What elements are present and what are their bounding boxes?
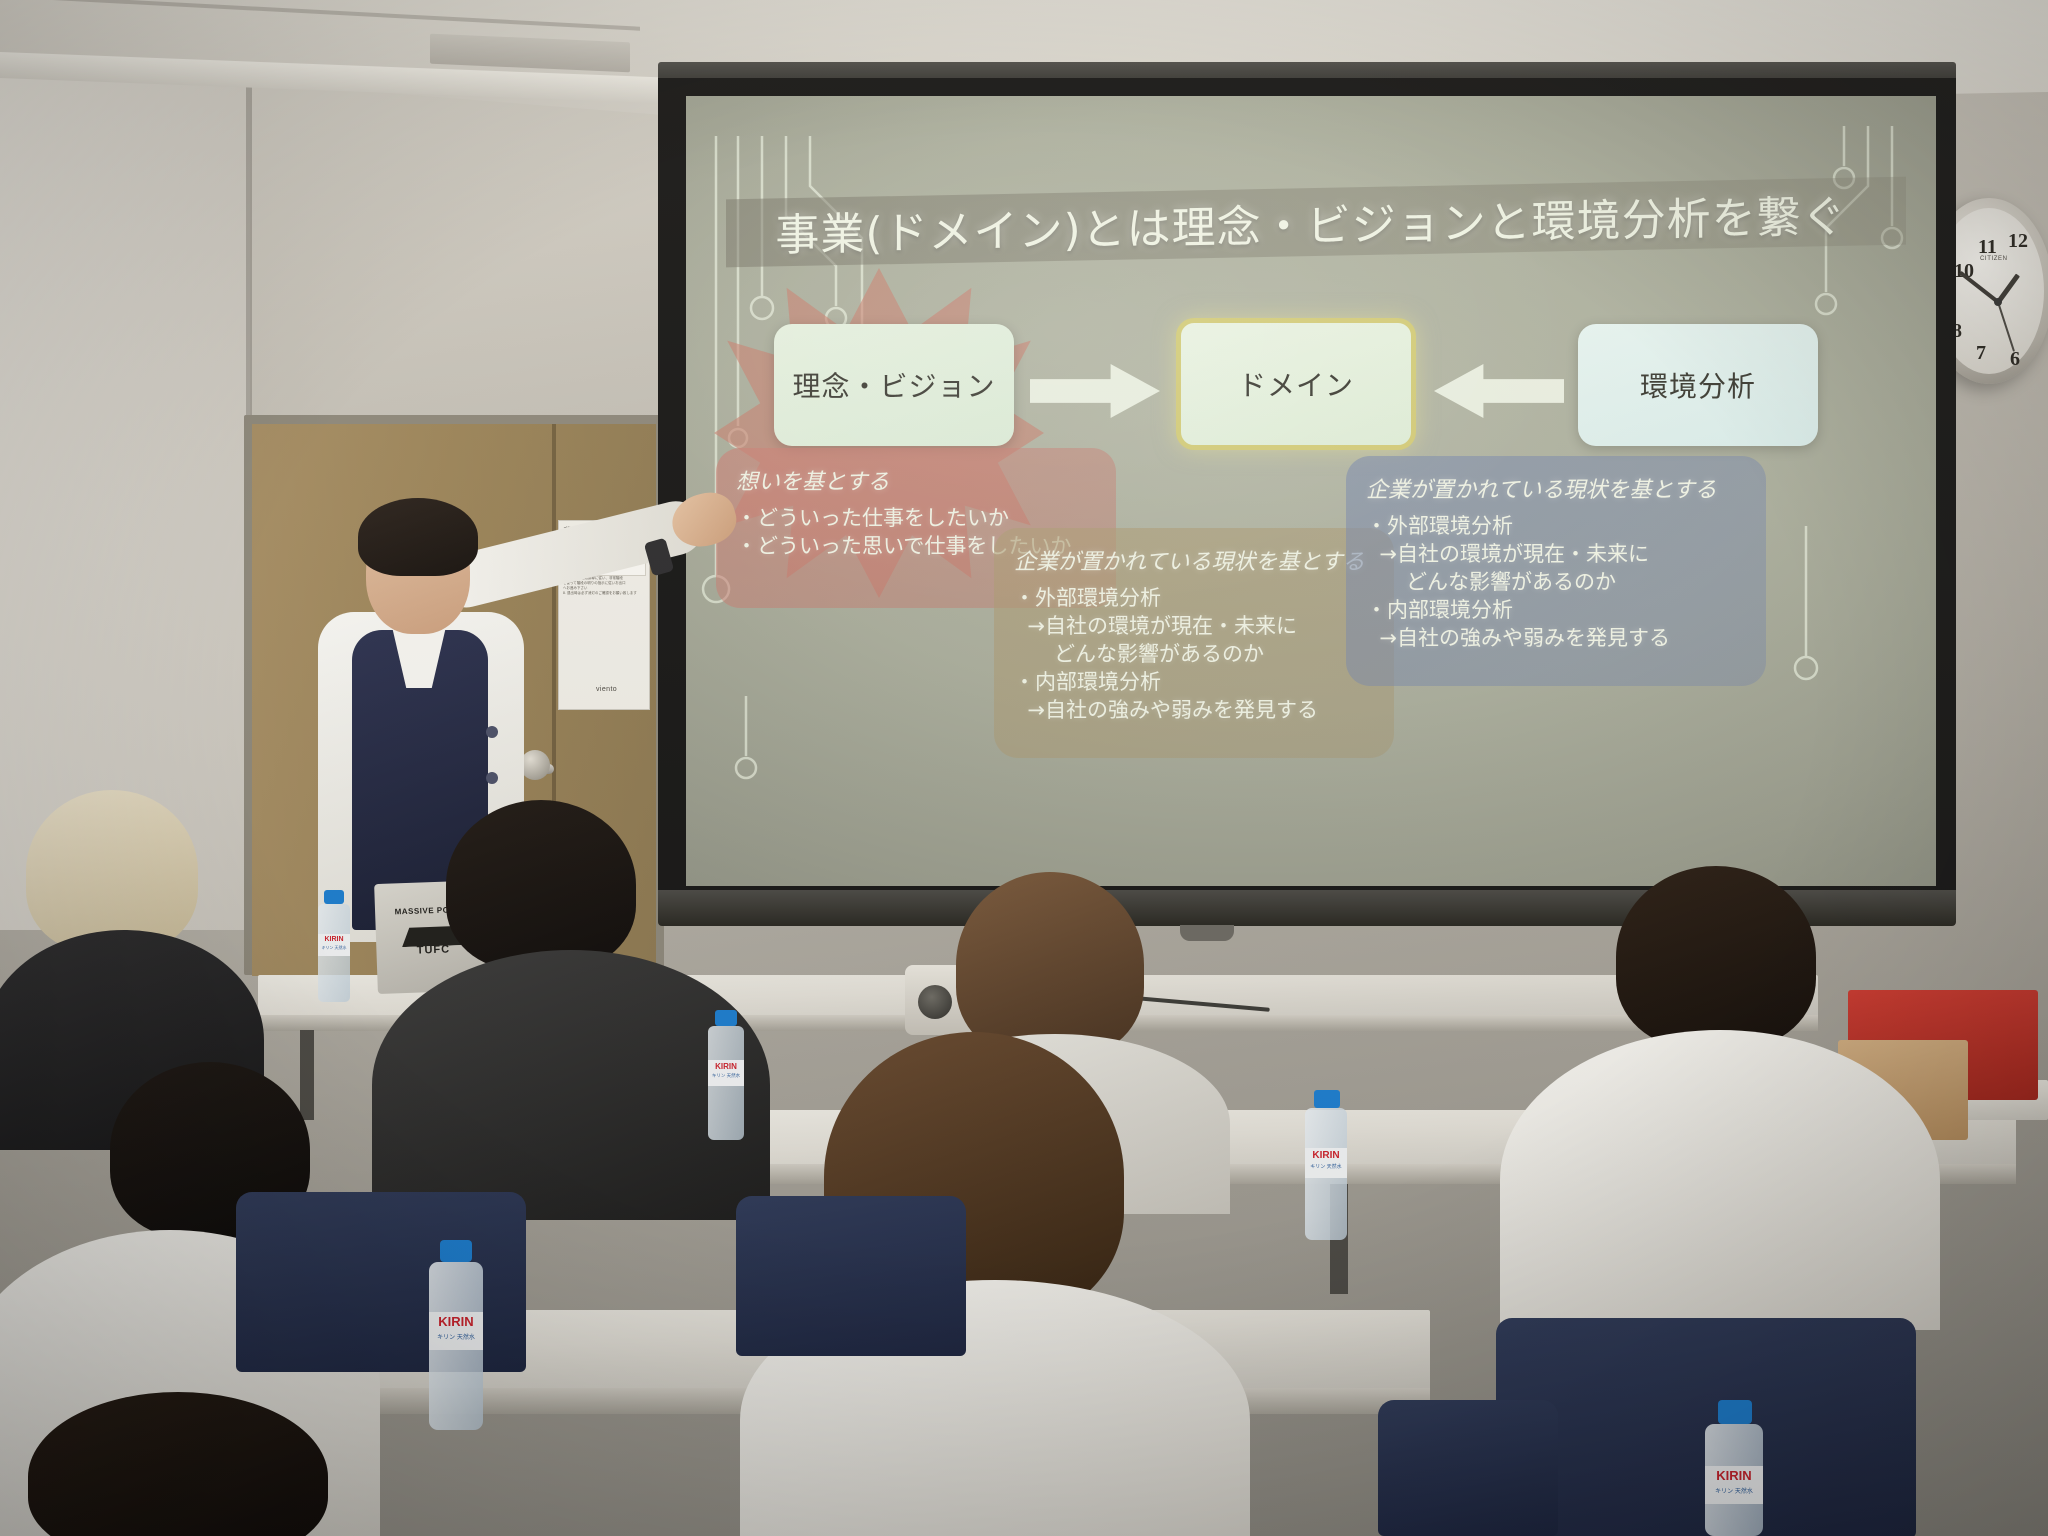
attendee-white-tshirt-right-shoulders: [1500, 1030, 1940, 1330]
attendee-blond-hair: [26, 790, 198, 952]
flow-box-vision-label: 理念・ビジョン: [792, 365, 995, 405]
panel-domain: 企業が置かれている現状を基とする ・外部環境分析 →自社の環境が現在・未来に ど…: [994, 528, 1394, 758]
flow-box-domain: ドメイン: [1176, 318, 1416, 450]
door-notice-logo: viento: [596, 686, 617, 693]
bottle-label: KIRIN キリン 天然水: [318, 934, 350, 956]
slide-title: 事業(ドメイン)とは理念・ビジョンと環境分析を繋ぐ: [686, 179, 1936, 265]
bottle-cap-icon: [1314, 1090, 1340, 1108]
panel-environment-line: →自社の環境が現在・未来に: [1366, 540, 1746, 568]
bottle-brand-label: KIRIN: [708, 1060, 744, 1073]
flow-box-environment-label: 環境分析: [1640, 365, 1756, 405]
bottle-brand-label: KIRIN: [429, 1312, 483, 1332]
projected-slide: 事業(ドメイン)とは理念・ビジョンと環境分析を繋ぐ 理念・ビジョン ドメイン 環…: [686, 96, 1936, 886]
bottle-cap-icon: [715, 1010, 737, 1026]
panel-domain-heading: 企業が置かれている現状を基とする: [1014, 544, 1374, 576]
door-notice-line: 8. 退出時は必ず消灯のご確認をお願い致します: [563, 591, 645, 596]
bottle-4[interactable]: KIRIN キリン 天然水: [418, 1240, 494, 1430]
bottle-brand-label: KIRIN: [1705, 1466, 1763, 1486]
vest-button: [486, 726, 498, 738]
arrow-environment-to-domain: [1434, 364, 1564, 418]
door-knob[interactable]: [520, 750, 550, 780]
clock-minute-hand: [1959, 271, 1999, 304]
clock-numeral: 11: [1978, 236, 1997, 259]
bottle-3[interactable]: KIRIN キリン 天然水: [1296, 1090, 1356, 1240]
clock-numeral: 6: [2010, 348, 2020, 371]
panel-domain-line: →自社の強みや弱みを発見する: [1014, 696, 1374, 724]
vest-button: [486, 772, 498, 784]
bottle-label: KIRIN キリン 天然水: [1705, 1466, 1763, 1504]
chair-center[interactable]: [736, 1196, 966, 1356]
panel-domain-line: ・外部環境分析: [1014, 584, 1374, 612]
bottle-sub-label: キリン 天然水: [318, 945, 350, 951]
bottle-sub-label: キリン 天然水: [429, 1332, 483, 1341]
panel-environment-line: どんな影響があるのか: [1366, 568, 1746, 596]
bottle-label: KIRIN キリン 天然水: [708, 1060, 744, 1086]
panel-environment-line: ・内部環境分析: [1366, 596, 1746, 624]
bottle-1[interactable]: KIRIN キリン 天然水: [312, 890, 356, 1002]
presenter-hair: [358, 498, 478, 576]
attendee-brown-hair-head: [956, 872, 1144, 1058]
bottle-sub-label: キリン 天然水: [1305, 1163, 1347, 1170]
bottle-2[interactable]: KIRIN キリン 天然水: [700, 1010, 752, 1140]
clock-second-hand: [1997, 302, 2015, 352]
table-leg: [300, 1030, 314, 1120]
panel-environment-heading: 企業が置かれている現状を基とする: [1366, 472, 1746, 504]
clock-numeral: 12: [2008, 230, 2028, 253]
panel-domain-line: →自社の環境が現在・未来に: [1014, 612, 1374, 640]
panel-vision-heading: 想いを基とする: [736, 464, 1096, 496]
arrow-vision-to-domain: [1030, 364, 1160, 418]
seminar-room-photo: ご利用にあたってのお願い 1. 室内での飲食はご遠慮下さい 2. 窓際の什器類の…: [0, 0, 2048, 1536]
panel-domain-line: ・内部環境分析: [1014, 668, 1374, 696]
flow-box-domain-label: ドメイン: [1238, 364, 1354, 404]
flow-box-vision: 理念・ビジョン: [774, 324, 1014, 446]
bottle-label: KIRIN キリン 天然水: [1305, 1148, 1347, 1178]
bottle-5[interactable]: KIRIN キリン 天然水: [1692, 1400, 1776, 1536]
bottle-cap-icon: [440, 1240, 472, 1262]
attendee-white-tshirt-right-hair: [1616, 866, 1816, 1048]
clock-center-pin: [1994, 298, 2002, 306]
bottle-brand-label: KIRIN: [1305, 1148, 1347, 1163]
projection-screen-pull-tab[interactable]: [1180, 925, 1234, 941]
panel-environment-line: →自社の強みや弱みを発見する: [1366, 624, 1746, 652]
projector-lens: [918, 985, 952, 1019]
panel-domain-line: どんな影響があるのか: [1014, 640, 1374, 668]
bottle-label: KIRIN キリン 天然水: [429, 1312, 483, 1350]
chair-right-2[interactable]: [1378, 1400, 1558, 1536]
panel-environment-line: ・外部環境分析: [1366, 512, 1746, 540]
bottle-brand-label: KIRIN: [318, 934, 350, 945]
bottle-sub-label: キリン 天然水: [708, 1073, 744, 1079]
bottle-cap-icon: [1718, 1400, 1752, 1424]
clock-numeral: 7: [1976, 342, 1986, 365]
bottle-sub-label: キリン 天然水: [1705, 1486, 1763, 1495]
bottle-cap-icon: [324, 890, 344, 904]
panel-environment: 企業が置かれている現状を基とする ・外部環境分析 →自社の環境が現在・未来に ど…: [1346, 456, 1766, 686]
attendee-dark-shirt-hair: [446, 800, 636, 970]
flow-box-environment: 環境分析: [1578, 324, 1818, 446]
